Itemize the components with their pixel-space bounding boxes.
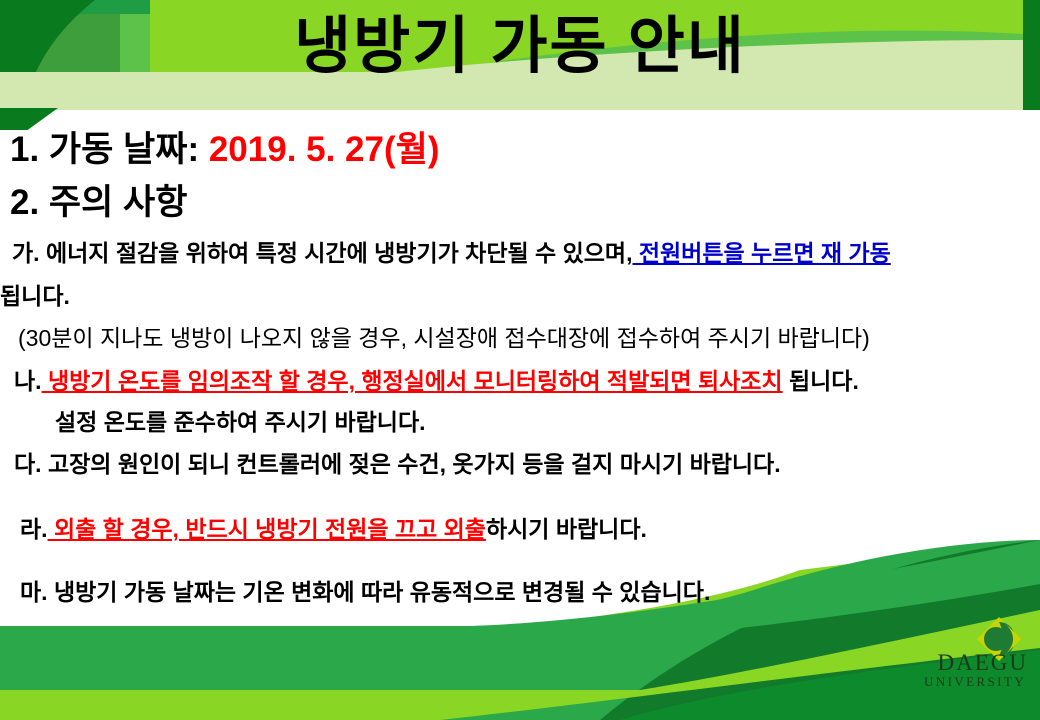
notice-na-text: 됩니다. [783,368,859,394]
notice-ga-parenthetical: (30분이 지나도 냉방이 나오지 않을 경우, 시설장애 접수대장에 접수하여… [0,327,1040,350]
notice-na-line1: 나. 냉방기 온도를 임의조작 할 경우, 행정실에서 모니터링하여 적발되면 … [0,370,1040,393]
notice-na-line2: 설정 온도를 준수하여 주시기 바랍니다. [0,411,1040,434]
logo-subtitle: UNIVERSITY [868,675,1028,688]
notice-ra-line: 라. 외출 할 경우, 반드시 냉방기 전원을 끄고 외출하시기 바랍니다. [0,518,1040,541]
notice-ma-text: 냉방기 가동 날짜는 기온 변화에 따라 유동적으로 변경될 수 있습니다. [48,579,711,605]
operation-date-label: 1. 가동 날짜: [10,130,199,169]
notice-ga-line1: 가. 에너지 절감을 위하여 특정 시간에 냉방기가 차단될 수 있으며, 전원… [0,242,1040,265]
notice-ma-marker: 마. [20,579,48,605]
notice-da-line: 다. 고장의 원인이 되니 컨트롤러에 젖은 수건, 옷가지 등을 걸지 마시기… [0,453,1040,476]
cautions-heading: 2. 주의 사항 [0,185,1040,220]
notice-ra-highlight: 외출 할 경우, 반드시 냉방기 전원을 끄고 외출 [48,516,486,542]
notice-ra-text: 하시기 바랍니다. [486,516,647,542]
notice-ma-line: 마. 냉방기 가동 날짜는 기온 변화에 따라 유동적으로 변경될 수 있습니다… [0,581,1040,604]
notice-ga-text1: 에너지 절감을 위하여 특정 시간에 냉방기가 차단될 수 있으며, [40,240,633,266]
notice-da-text: 고장의 원인이 되니 컨트롤러에 젖은 수건, 옷가지 등을 걸지 마시기 바랍… [42,451,781,477]
notice-slide: 냉방기 가동 안내 1. 가동 날짜: 2019. 5. 27(월) 2. 주의… [0,0,1040,720]
operation-date-value: 2019. 5. 27(월) [209,130,440,169]
daegu-university-logo: DAEGU UNIVERSITY [868,616,1028,692]
notice-na-highlight: 냉방기 온도를 임의조작 할 경우, 행정실에서 모니터링하여 적발되면 퇴사조… [42,368,783,394]
notice-ga-marker: 가. [12,240,40,266]
notice-na-marker: 나. [14,368,42,394]
notice-ga-highlight: 전원버튼을 누르면 재 가동 [632,240,890,266]
page-title: 냉방기 가동 안내 [0,14,1040,79]
notice-ra-marker: 라. [20,516,48,542]
header-decoration: 냉방기 가동 안내 [0,0,1040,130]
operation-date-line: 1. 가동 날짜: 2019. 5. 27(월) [0,132,1040,167]
notice-ga-line2: 됩니다. [0,285,1040,308]
logo-wordmark: DAEGU UNIVERSITY [868,651,1028,688]
logo-name: DAEGU [868,651,1028,674]
notice-body: 1. 가동 날짜: 2019. 5. 27(월) 2. 주의 사항 가. 에너지… [0,128,1040,604]
notice-da-marker: 다. [14,451,42,477]
